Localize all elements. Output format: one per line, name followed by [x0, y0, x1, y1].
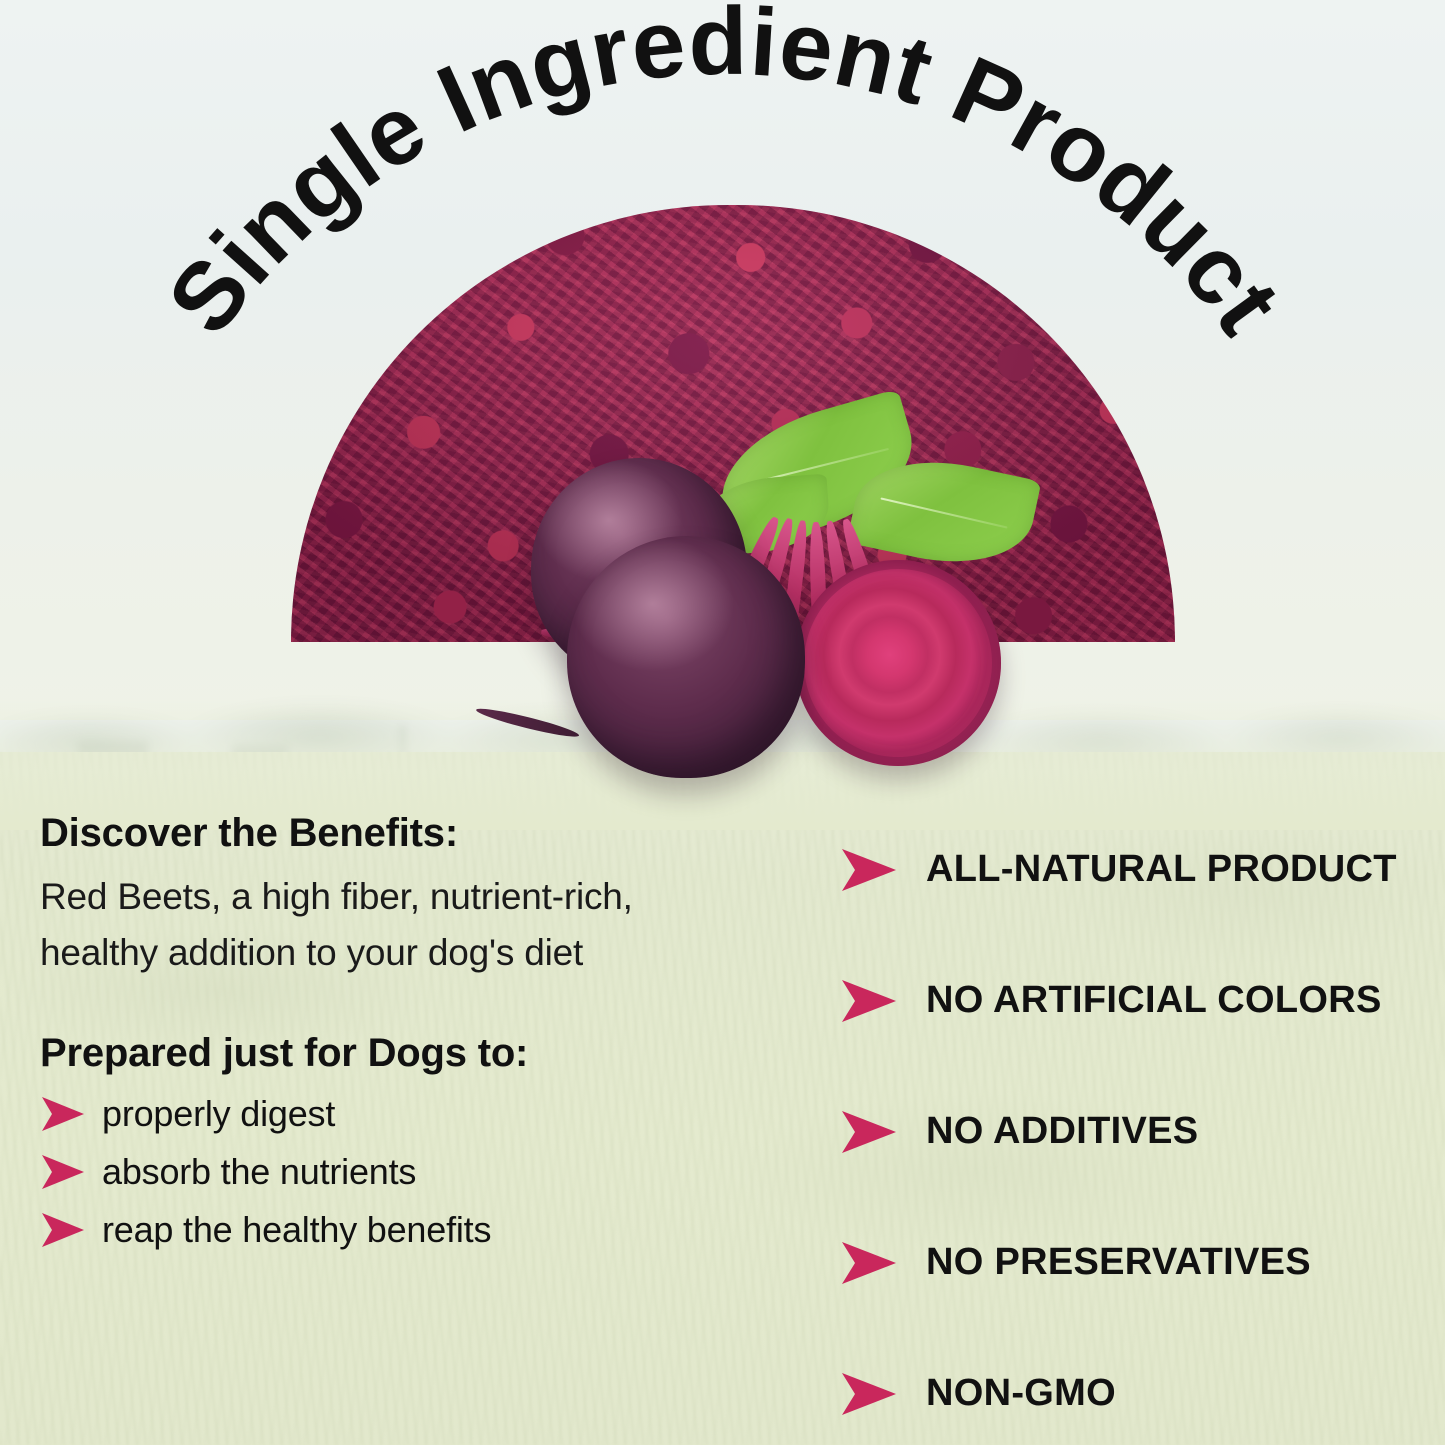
list-item: NO PRESERVATIVES [840, 1197, 1420, 1328]
beet-whole-front [567, 536, 805, 778]
benefits-body: Red Beets, a high fiber, nutrient-rich, … [40, 869, 720, 981]
list-item: NO ADDITIVES [840, 1066, 1420, 1197]
beet-half-sliced [795, 560, 1001, 766]
arrow-bullet-icon [40, 1211, 86, 1249]
left-column: Discover the Benefits: Red Beets, a high… [40, 810, 720, 1267]
prepared-list: properly digest absorb the nutrients rea… [40, 1093, 720, 1251]
list-item-label: absorb the nutrients [102, 1151, 416, 1193]
list-item-label: properly digest [102, 1093, 335, 1135]
list-item: reap the healthy benefits [40, 1209, 720, 1251]
product-infographic: Single Ingredient Product Discover the B… [0, 0, 1445, 1445]
arrow-bullet-icon [840, 847, 898, 893]
arrow-bullet-icon [840, 978, 898, 1024]
arrow-bullet-icon [840, 1240, 898, 1286]
list-item: NON-GMO [840, 1328, 1420, 1445]
arrow-bullet-icon [840, 1371, 898, 1417]
list-item: absorb the nutrients [40, 1151, 720, 1193]
list-item: ALL-NATURAL PRODUCT [840, 804, 1420, 935]
arrow-bullet-icon [840, 1109, 898, 1155]
claim-label: NO ADDITIVES [926, 1110, 1198, 1153]
fresh-beets-cluster [455, 400, 1015, 800]
claim-label: NO ARTIFICIAL COLORS [926, 979, 1382, 1022]
content-area: Discover the Benefits: Red Beets, a high… [0, 780, 1445, 1445]
arrow-bullet-icon [40, 1095, 86, 1133]
benefits-heading: Discover the Benefits: [40, 810, 720, 857]
list-item-label: reap the healthy benefits [102, 1209, 491, 1251]
beet-root-tail [475, 705, 581, 741]
list-item: properly digest [40, 1093, 720, 1135]
claim-label: NON-GMO [926, 1372, 1116, 1415]
claims-list: ALL-NATURAL PRODUCT NO ARTIFICIAL COLORS… [840, 804, 1420, 1445]
claim-label: NO PRESERVATIVES [926, 1241, 1311, 1284]
claim-label: ALL-NATURAL PRODUCT [926, 848, 1397, 891]
right-column: ALL-NATURAL PRODUCT NO ARTIFICIAL COLORS… [840, 804, 1420, 1445]
list-item: NO ARTIFICIAL COLORS [840, 935, 1420, 1066]
arrow-bullet-icon [40, 1153, 86, 1191]
prepared-heading: Prepared just for Dogs to: [40, 1030, 720, 1077]
